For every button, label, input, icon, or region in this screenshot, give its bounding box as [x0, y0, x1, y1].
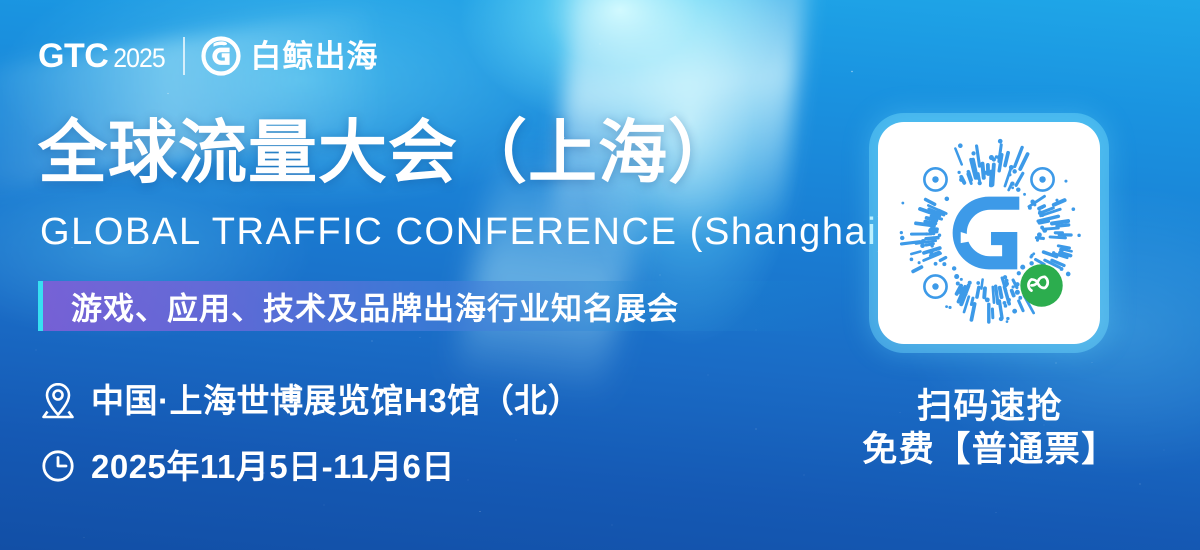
date-text: 2025年11月5日-11月6日: [91, 450, 455, 483]
page-title: 全球流量大会（上海）: [38, 117, 738, 189]
qr-center-logo: [947, 191, 1032, 276]
date-info: 2025年11月5日-11月6日: [40, 448, 455, 484]
qr-code-graphic: [888, 132, 1090, 334]
brand-name-text: 白鲸出海: [250, 41, 378, 72]
tagline-accent-bar: [38, 281, 43, 331]
venue-info: 中国·上海世博展览馆H3馆（北）: [40, 381, 581, 419]
clock-icon: [40, 448, 76, 484]
wechat-miniprogram-qr-code[interactable]: [888, 132, 1090, 334]
tagline-text: 游戏、应用、技术及品牌出海行业知名展会: [71, 284, 679, 329]
location-pin-icon: [40, 381, 76, 419]
header-logo-row: GTC 2025 白鲸出海: [38, 33, 378, 79]
qr-cta: 扫码速抢 免费【普通票】: [840, 386, 1140, 471]
gtc-logo-year: 2025: [114, 45, 166, 72]
gtc-logo: GTC 2025: [38, 39, 167, 73]
venue-text: 中国·上海世博展览馆H3馆（北）: [91, 384, 581, 417]
vertical-divider: [183, 37, 185, 75]
qr-code-card[interactable]: [878, 122, 1100, 344]
event-promo-banner: GTC 2025 白鲸出海 全球流量大会（上海） GLOBAL TRAFFIC …: [0, 0, 1200, 550]
whale-g-circle-icon: [201, 36, 241, 76]
cta-line-2: 免费【普通票】: [840, 429, 1140, 472]
gtc-logo-text: GTC: [38, 39, 108, 73]
wechat-miniprogram-badge-icon: [1020, 264, 1062, 306]
page-subtitle-english: GLOBAL TRAFFIC CONFERENCE (Shanghai): [40, 212, 892, 254]
brand-logo: 白鲸出海: [201, 36, 378, 76]
tagline-banner: 游戏、应用、技术及品牌出海行业知名展会: [38, 281, 838, 331]
cta-line-1: 扫码速抢: [840, 386, 1140, 429]
